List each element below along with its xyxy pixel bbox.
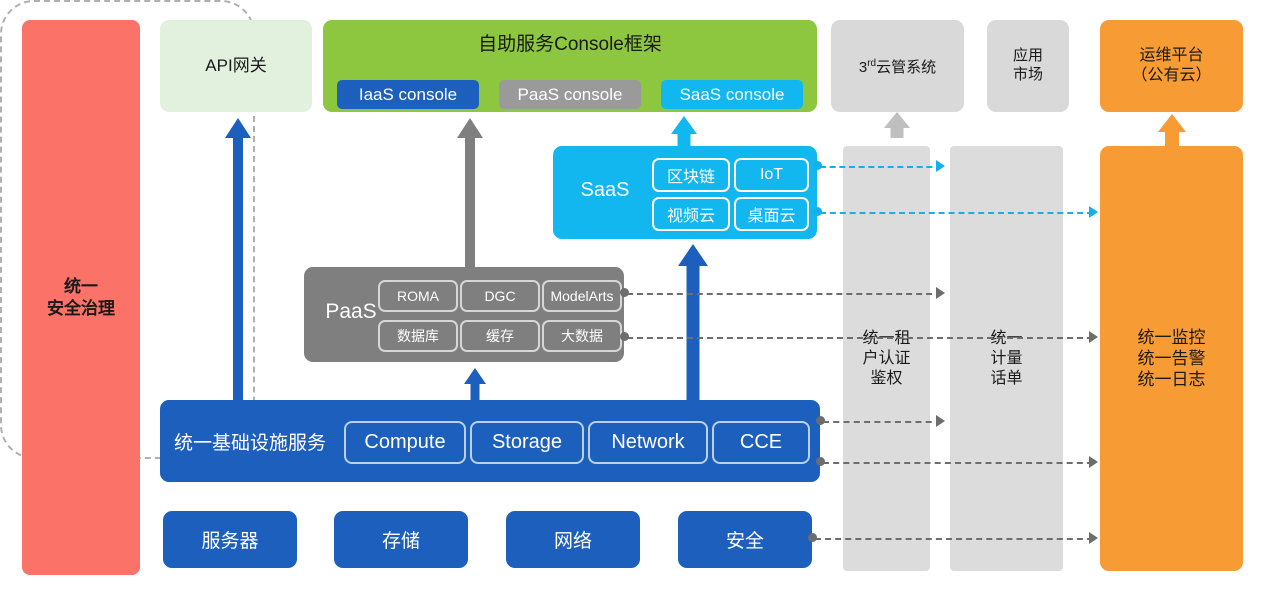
hardware-box-storage-label: 存储 <box>382 526 420 553</box>
arrow-paas-to-console <box>457 118 483 268</box>
ops-platform-public-cloud-label: 运维平台 （公有云） <box>1131 46 1211 86</box>
saas-title: SaaS <box>565 179 645 202</box>
hardware-box-storage: 存储 <box>334 511 468 568</box>
hardware-box-server: 服务器 <box>163 511 297 568</box>
paas-console-chip[interactable]: PaaS console <box>499 80 641 109</box>
third-party-cloud-management-box: 3rd云管系统 <box>831 20 964 112</box>
console-frame-title: 自助服务Console框架 <box>323 29 817 56</box>
connector-arrowhead-saas-auth <box>936 160 945 172</box>
arrow-infra-to-paas <box>464 368 486 401</box>
iaas-console-chip[interactable]: IaaS console <box>337 80 479 109</box>
connector-hardware-to-ops <box>815 538 1093 540</box>
saas-chip-desktop-cloud[interactable]: 桌面云 <box>734 197 809 231</box>
paas-chip-cache[interactable]: 缓存 <box>460 320 540 352</box>
hardware-box-network: 网络 <box>506 511 640 568</box>
hardware-box-server-label: 服务器 <box>201 526 258 553</box>
hardware-box-network-label: 网络 <box>554 526 592 553</box>
arrow-infra-to-saas <box>678 244 708 401</box>
unified-metering-column: 统一 计量 话单 <box>950 146 1063 571</box>
unified-monitoring-panel: 统一监控 统一告警 统一日志 <box>1100 146 1243 571</box>
connector-arrowhead-paas-ops <box>1089 331 1098 343</box>
saas-chip-blockchain[interactable]: 区块链 <box>652 158 730 192</box>
connector-infra-to-auth <box>823 421 942 423</box>
unified-security-governance-panel: 统一 安全治理 <box>22 20 140 575</box>
connector-arrowhead-saas-ops <box>1089 206 1098 218</box>
app-market-box: 应用 市场 <box>987 20 1069 112</box>
unified-security-governance-label: 统一 安全治理 <box>47 276 115 319</box>
self-service-console-frame: 自助服务Console框架 IaaS console PaaS console … <box>323 20 817 112</box>
infra-chip-cce[interactable]: CCE <box>712 421 810 464</box>
connector-arrowhead-infra-ops <box>1089 456 1098 468</box>
arrow-infra-to-api-gateway <box>225 118 251 400</box>
unified-infrastructure-service-bar: 统一基础设施服务 Compute Storage Network CCE <box>160 400 820 482</box>
paas-chip-roma[interactable]: ROMA <box>378 280 458 312</box>
unified-infrastructure-service-title: 统一基础设施服务 <box>174 428 326 455</box>
connector-arrowhead-hardware-ops <box>1089 532 1098 544</box>
connector-saas-to-ops <box>820 212 1093 214</box>
ops-platform-public-cloud-box: 运维平台 （公有云） <box>1100 20 1243 112</box>
infra-chip-network[interactable]: Network <box>588 421 708 464</box>
api-gateway-box: API网关 <box>160 20 312 112</box>
paas-chip-modelarts[interactable]: ModelArts <box>542 280 622 312</box>
saas-chip-video-cloud[interactable]: 视频云 <box>652 197 730 231</box>
unified-tenant-auth-column: 统一租 户认证 鉴权 <box>843 146 930 571</box>
arrow-saas-to-console <box>671 116 697 148</box>
api-gateway-label: API网关 <box>205 55 266 76</box>
paas-block: PaaS ROMA DGC ModelArts 数据库 缓存 大数据 <box>304 267 624 362</box>
architecture-diagram: 统一 安全治理 API网关 自助服务Console框架 IaaS console… <box>0 0 1265 605</box>
arrow-shared-to-third-party-cloud <box>884 112 910 138</box>
saas-chip-iot[interactable]: IoT <box>734 158 809 192</box>
paas-chip-bigdata[interactable]: 大数据 <box>542 320 622 352</box>
connector-infra-to-ops <box>823 462 1093 464</box>
infra-chip-storage[interactable]: Storage <box>470 421 584 464</box>
connector-arrowhead-paas-auth <box>936 287 945 299</box>
app-market-label: 应用 市场 <box>1013 47 1043 85</box>
third-party-cloud-management-label: 3rd云管系统 <box>859 56 936 77</box>
hardware-box-security: 安全 <box>678 511 812 568</box>
connector-paas-to-auth <box>627 293 942 295</box>
hardware-box-security-label: 安全 <box>726 526 764 553</box>
paas-chip-dgc[interactable]: DGC <box>460 280 540 312</box>
arrow-ops-main-to-ops-top <box>1158 114 1186 148</box>
connector-arrowhead-infra-auth <box>936 415 945 427</box>
infra-chip-compute[interactable]: Compute <box>344 421 466 464</box>
saas-block: SaaS 区块链 IoT 视频云 桌面云 <box>553 146 817 239</box>
connector-paas-to-ops <box>627 337 1093 339</box>
connector-saas-to-auth <box>820 166 942 168</box>
unified-monitoring-label: 统一监控 统一告警 统一日志 <box>1138 327 1206 391</box>
saas-console-chip[interactable]: SaaS console <box>661 80 803 109</box>
paas-chip-database[interactable]: 数据库 <box>378 320 458 352</box>
